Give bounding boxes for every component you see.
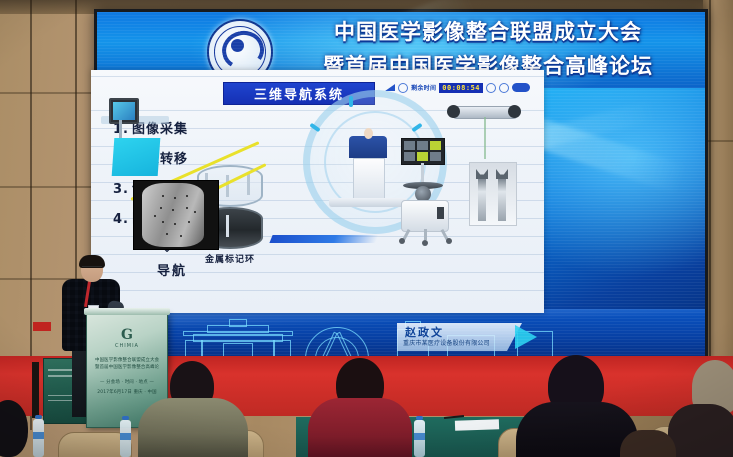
slide-title: 三维导航系统: [254, 84, 344, 103]
timer-settings-button[interactable]: [512, 83, 530, 92]
stop-icon[interactable]: [499, 83, 509, 93]
navigation-display-icon: [401, 138, 445, 165]
bottle-cap: [122, 416, 129, 420]
banner-title-line1: 中国医学影像整合联盟成立大会: [277, 16, 699, 50]
podium-logo-subtext: CHIMIA: [87, 343, 167, 349]
bottle-label: [33, 432, 44, 439]
presentation-slide: 三维导航系统 剩余时间 00:08:54 1.图像采集 2.图像转移 3.设置参…: [91, 70, 544, 313]
surgical-instruments-image: [469, 162, 517, 226]
bottle-cap: [416, 416, 423, 420]
bottle-label: [120, 433, 131, 440]
list-item-number: 4.: [113, 212, 129, 227]
conference-room-photo: CHIMIA 中国医学影像整合联盟成立大会 暨首届中国医学影像整合高峰论坛: [0, 0, 733, 457]
wall-seam: [709, 0, 711, 390]
patient-head: [364, 128, 373, 139]
monitor-arm: [119, 120, 122, 138]
scanner-table-base: [329, 198, 407, 207]
blue-accent-bar: [269, 235, 378, 243]
xray-image: [133, 180, 219, 250]
timer-label: 剩余时间: [411, 83, 436, 92]
bottle-label: [414, 433, 425, 440]
nameplate-arrow-icon: [515, 325, 537, 349]
equipment-panel: [112, 138, 161, 176]
list-item-label: 图像采集: [132, 122, 188, 137]
podium-text-line4: 2017年6月17日 重庆 · 中国: [95, 389, 159, 395]
speaker-organization: 重庆市某医疗设备股份有限公司: [403, 338, 490, 347]
control-monitor-icon: [109, 98, 139, 124]
pause-icon[interactable]: [486, 83, 496, 93]
wall-seam: [0, 92, 95, 94]
clock-icon: [398, 83, 408, 93]
podium-text-line2: 暨首届中国医学影像整合高峰论坛: [95, 364, 159, 370]
podium-text-line1: 中国医学影像整合联盟成立大会: [95, 357, 159, 363]
patient-figure: [349, 136, 387, 158]
list-item-number: 3.: [113, 182, 129, 197]
wall-seam: [0, 186, 95, 188]
audience-body: [308, 398, 412, 457]
audience-body: [620, 430, 676, 457]
podium-top-surface: [84, 308, 170, 315]
bottle-cap: [35, 415, 42, 419]
podium-text-line3: — 分会场 · 时间 · 地点 —: [95, 379, 159, 385]
exit-sign-icon: [33, 322, 51, 331]
timer-value: 00:08:54: [439, 83, 483, 93]
audience-body: [138, 398, 248, 457]
banner-stand-pole: [32, 362, 39, 418]
navigation-cart-icon: [401, 200, 449, 232]
pavilion-finial: [229, 319, 247, 327]
podium-logo-icon: G: [87, 327, 167, 343]
tracker-cord: [484, 117, 486, 159]
scanner-table: [353, 158, 385, 200]
ring-caption: 金属标记环: [187, 252, 273, 265]
paper-sheet: [455, 419, 499, 431]
audience-body: [668, 404, 733, 457]
presentation-timer: 剩余时间 00:08:54: [385, 82, 530, 93]
speaker-nameplate: 赵政文 重庆市某医疗设备股份有限公司: [397, 323, 557, 353]
glasses-icon: [82, 266, 102, 271]
